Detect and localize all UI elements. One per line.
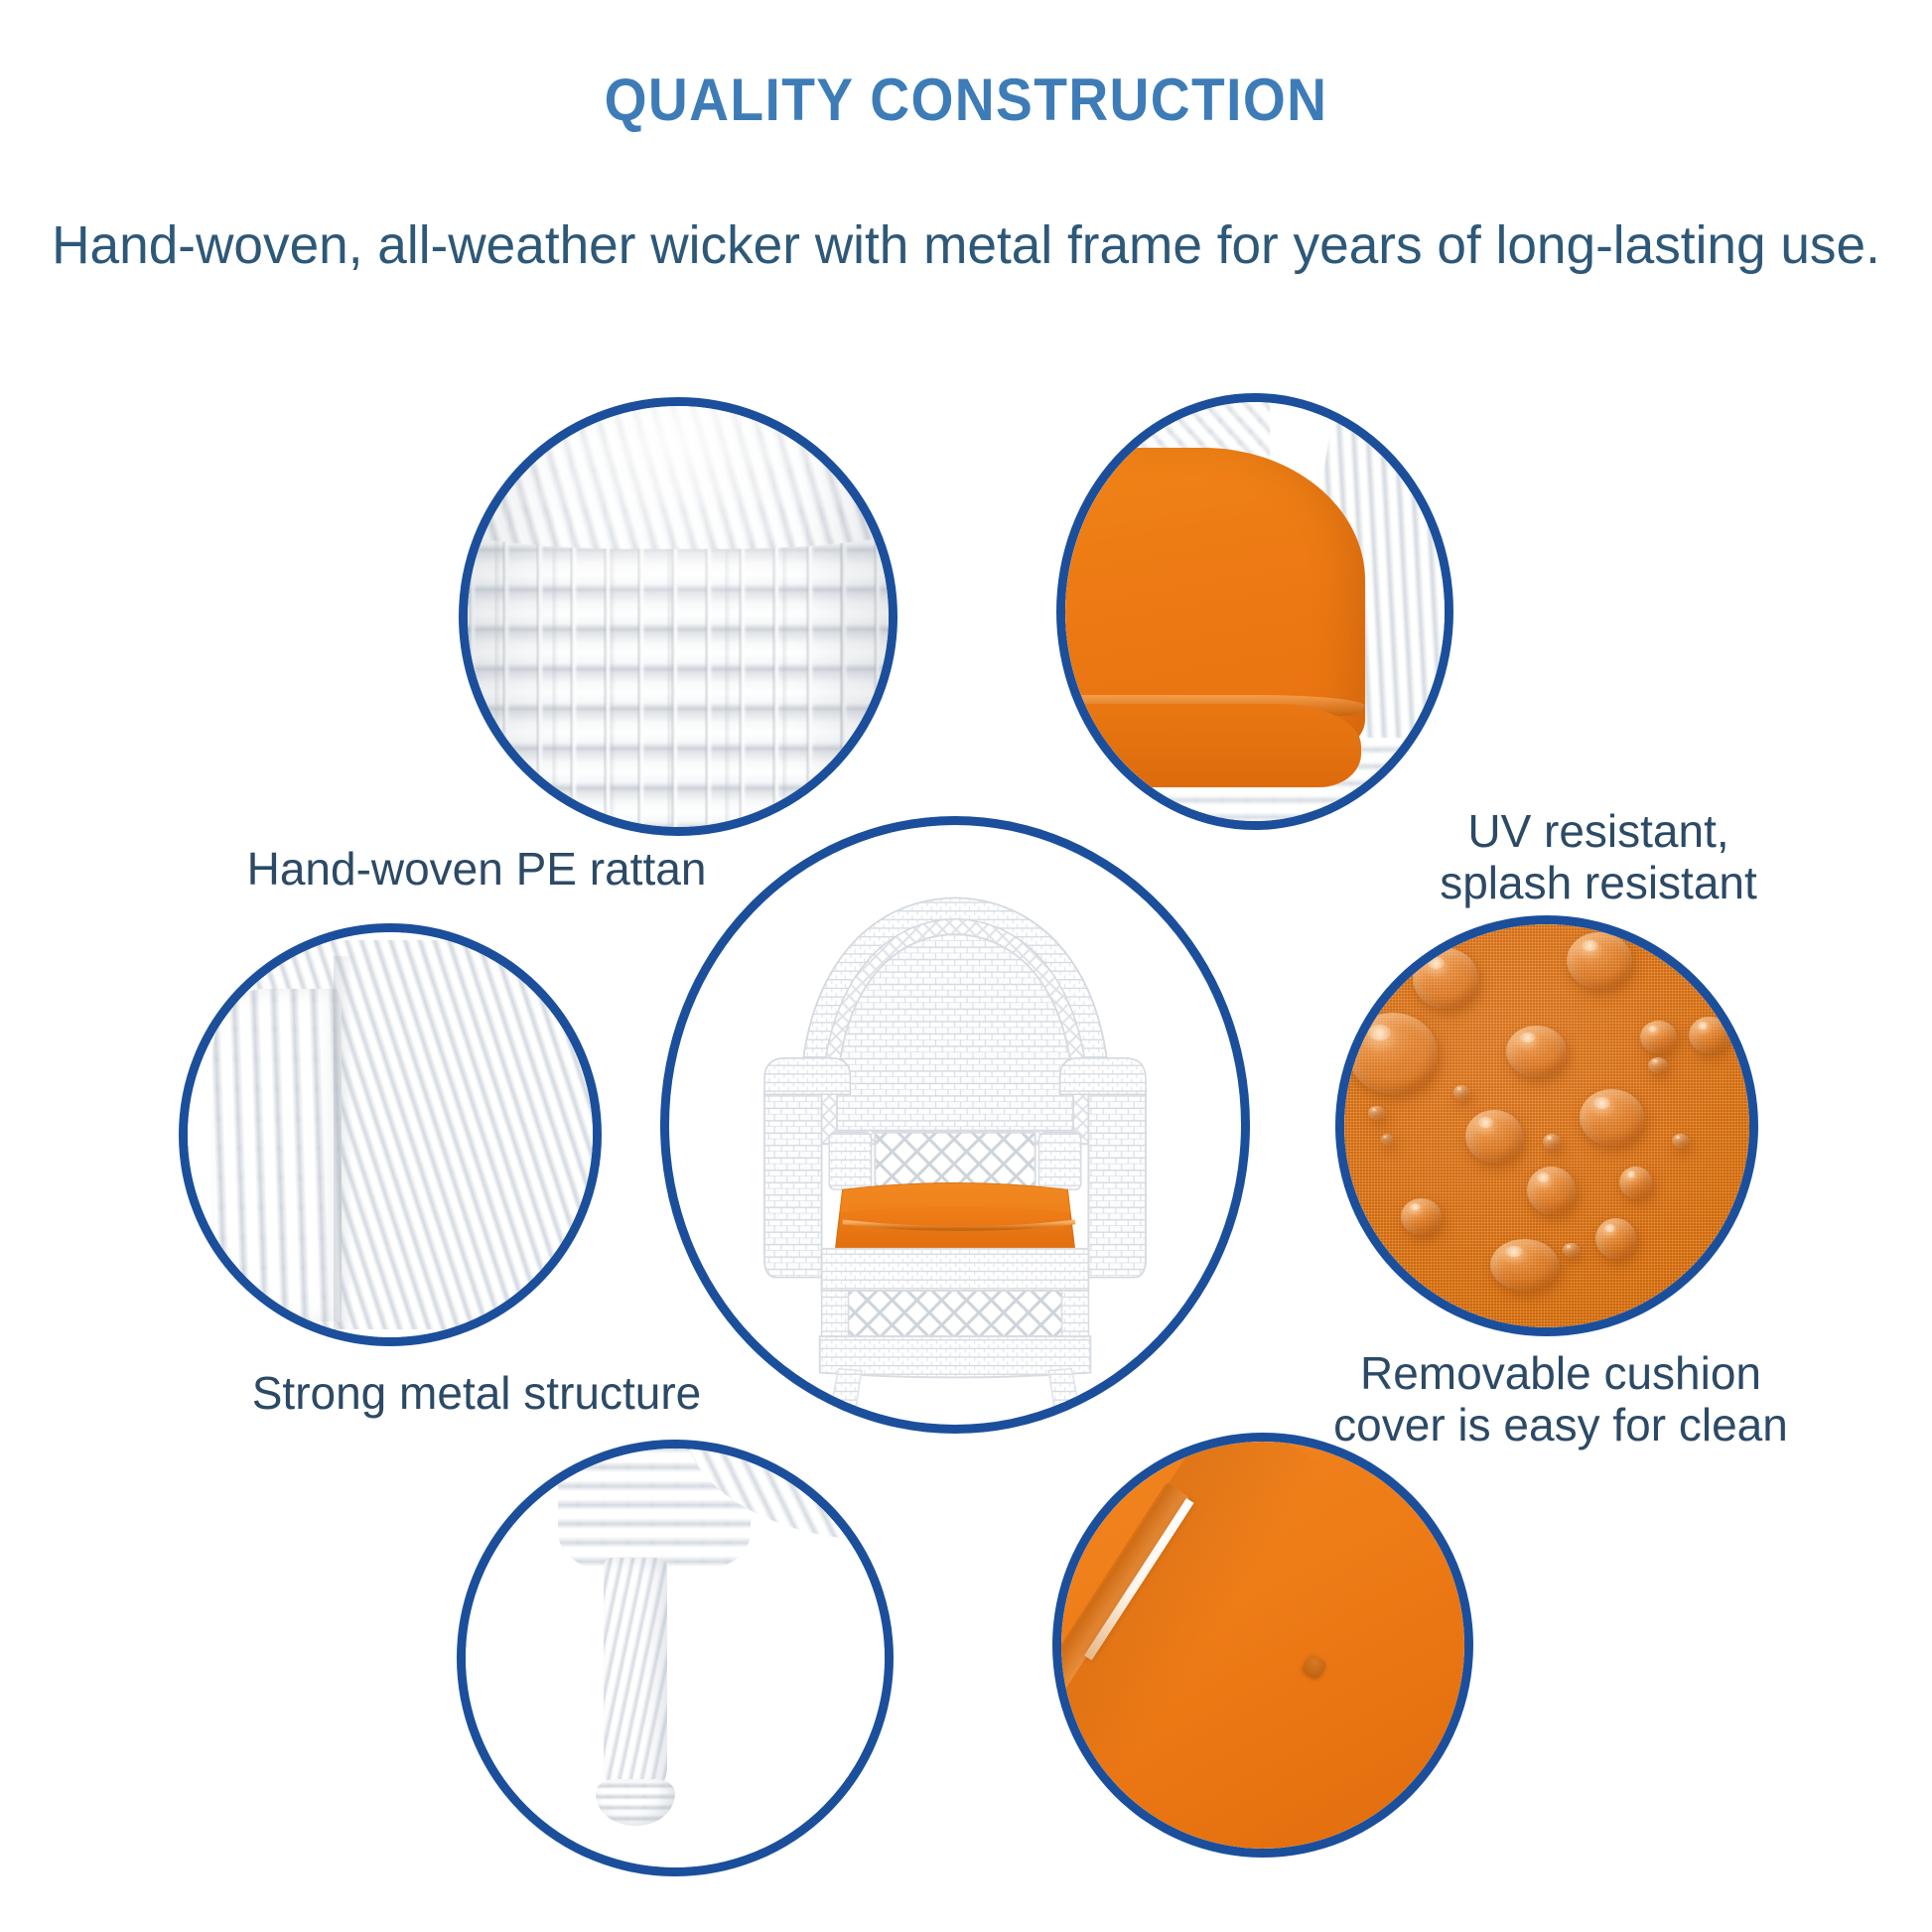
water-droplet [1567,932,1631,989]
water-droplet [1563,1243,1579,1257]
water-droplet [1640,1021,1677,1052]
feature-circle-uv-splash-resistant [1056,393,1453,830]
water-droplet [1689,1017,1729,1053]
feature-circle-strong-metal-structure [179,923,602,1346]
cushion-zipper-image [1061,1442,1464,1849]
feature-circle-product-chair [660,816,1250,1434]
wicker-chair-illustration [669,825,1241,1425]
feature-label-hand-woven-pe-rattan: Hand-woven PE rattan [179,844,774,896]
water-droplet [1580,1089,1644,1146]
feature-label-removable-cushion-cover: Removable cushion cover is easy for clea… [1303,1348,1819,1450]
water-droplet [1506,1026,1567,1078]
feature-label-uv-splash-resistant: UV resistant, splash resistant [1390,806,1807,908]
page-title: QUALITY CONSTRUCTION [77,66,1855,134]
chair-leg-image [466,1449,885,1867]
water-droplet [1619,1167,1652,1198]
zipper-pull [1302,1654,1327,1680]
feature-circle-hand-woven-pe-rattan [459,397,897,836]
feature-label-strong-metal-structure: Strong metal structure [159,1368,794,1420]
feature-circle-woven-chair-leg [457,1440,894,1876]
product-chair-image [669,825,1241,1425]
water-droplet [1527,1167,1576,1215]
water-droplet [1595,1218,1636,1259]
water-droplet [1453,1085,1469,1099]
water-droplet [1401,1198,1442,1235]
water-droplet [1381,1134,1393,1145]
water-droplet [1672,1134,1688,1148]
water-droplet [1368,1106,1384,1120]
feature-circle-cushion-zipper [1052,1433,1473,1858]
water-droplet [1413,948,1477,1009]
water-droplets-image [1344,924,1749,1327]
water-droplet [1465,1110,1522,1163]
frame-corner-image [188,932,593,1337]
rattan-weave-image [468,406,889,827]
cushion-closeup-image [1065,402,1445,821]
feature-circle-removable-cushion-cover [1335,915,1758,1336]
page-subtitle: Hand-woven, all-weather wicker with meta… [15,214,1918,276]
water-droplet [1348,1013,1438,1093]
